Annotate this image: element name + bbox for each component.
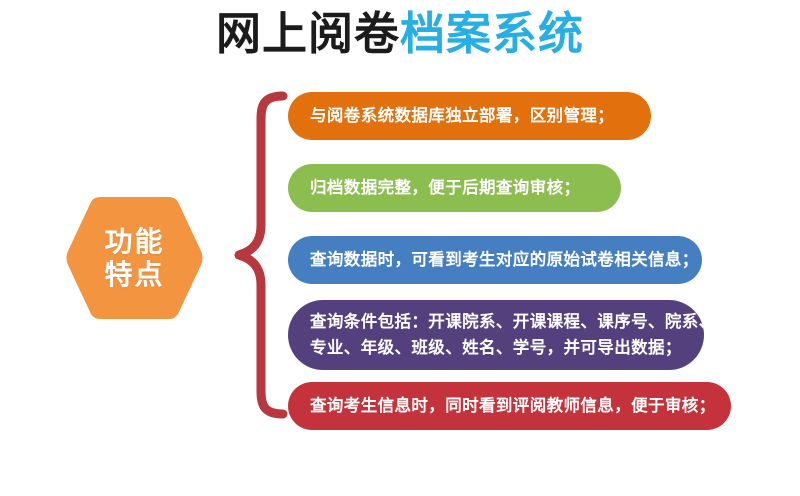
feature-pill-4[interactable]: 查询条件包括：开课院系、开课课程、课序号、院系、 专业、年级、班级、姓名、学号，… xyxy=(288,300,704,370)
feature-pill-5-text: 查询考生信息时，同时看到评阅教师信息，便于审核； xyxy=(310,393,716,419)
feature-pill-3-line-1: 查询数据时，可看到考生对应的原始试卷相关信息； xyxy=(310,247,699,273)
feature-pill-1-text: 与阅卷系统数据库独立部署，区别管理； xyxy=(310,103,614,129)
page-title-primary: 网上阅卷 xyxy=(216,8,400,59)
curly-brace-icon xyxy=(205,90,295,420)
feature-pill-1[interactable]: 与阅卷系统数据库独立部署，区别管理； xyxy=(288,92,651,140)
feature-pill-4-text: 查询条件包括：开课院系、开课课程、课序号、院系、 专业、年级、班级、姓名、学号，… xyxy=(310,309,716,361)
feature-pill-3-text: 查询数据时，可看到考生对应的原始试卷相关信息； xyxy=(310,247,699,273)
hexagon-label-line-1: 功能 xyxy=(104,225,164,258)
page-title-accent: 档案系统 xyxy=(400,8,584,59)
feature-pill-4-line-1: 查询条件包括：开课院系、开课课程、课序号、院系、 xyxy=(310,309,716,335)
feature-pill-2[interactable]: 归档数据完整，便于后期查询审核； xyxy=(288,164,621,212)
feature-pill-2-text: 归档数据完整，便于后期查询审核； xyxy=(310,175,580,201)
hexagon-badge: 功能 特点 xyxy=(62,193,207,323)
page-title: 网上阅卷档案系统 xyxy=(0,4,800,64)
feature-pill-4-line-2: 专业、年级、班级、姓名、学号，并可导出数据； xyxy=(310,335,716,361)
feature-pill-2-line-1: 归档数据完整，便于后期查询审核； xyxy=(310,175,580,201)
feature-pill-5[interactable]: 查询考生信息时，同时看到评阅教师信息，便于审核； xyxy=(288,382,731,430)
feature-pill-3[interactable]: 查询数据时，可看到考生对应的原始试卷相关信息； xyxy=(288,236,702,284)
hexagon-label-line-2: 特点 xyxy=(104,258,164,291)
hexagon-label: 功能 特点 xyxy=(62,193,207,323)
feature-pill-5-line-1: 查询考生信息时，同时看到评阅教师信息，便于审核； xyxy=(310,393,716,419)
feature-pill-1-line-1: 与阅卷系统数据库独立部署，区别管理； xyxy=(310,103,614,129)
infographic-canvas: 网上阅卷档案系统 功能 特点 与阅卷系统数据库独立部署，区别管理； 归档数据完整… xyxy=(0,0,800,496)
